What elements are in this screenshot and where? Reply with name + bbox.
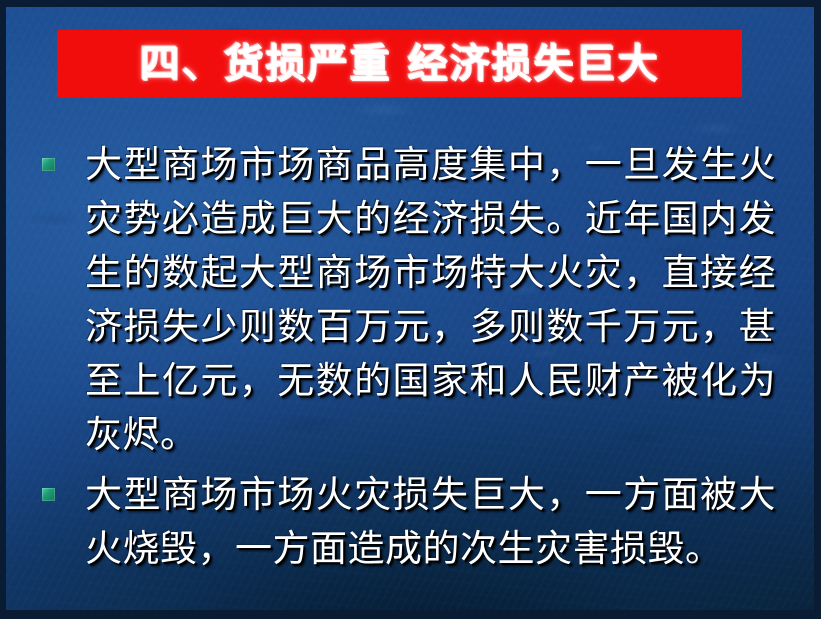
bullet-item-text: 大型商场市场商品高度集中，一旦发生火灾势必造成巨大的经济损失。近年国内发生的数起…: [85, 138, 776, 462]
slide-body: 大型商场市场商品高度集中，一旦发生火灾势必造成巨大的经济损失。近年国内发生的数起…: [36, 138, 776, 582]
slide-title: 四、货损严重 经济损失巨大: [140, 44, 660, 84]
bullet-item-text: 大型商场市场火灾损失巨大，一方面被大火烧毁，一方面造成的次生灾害损毁。: [85, 468, 776, 576]
bullet-item: 大型商场市场火灾损失巨大，一方面被大火烧毁，一方面造成的次生灾害损毁。: [36, 468, 776, 576]
presentation-slide: 四、货损严重 经济损失巨大 大型商场市场商品高度集中，一旦发生火灾势必造成巨大的…: [0, 0, 821, 619]
square-bullet-icon: [42, 488, 55, 501]
title-banner: 四、货损严重 经济损失巨大: [57, 30, 742, 97]
bullet-item: 大型商场市场商品高度集中，一旦发生火灾势必造成巨大的经济损失。近年国内发生的数起…: [36, 138, 776, 462]
square-bullet-icon: [42, 158, 55, 171]
